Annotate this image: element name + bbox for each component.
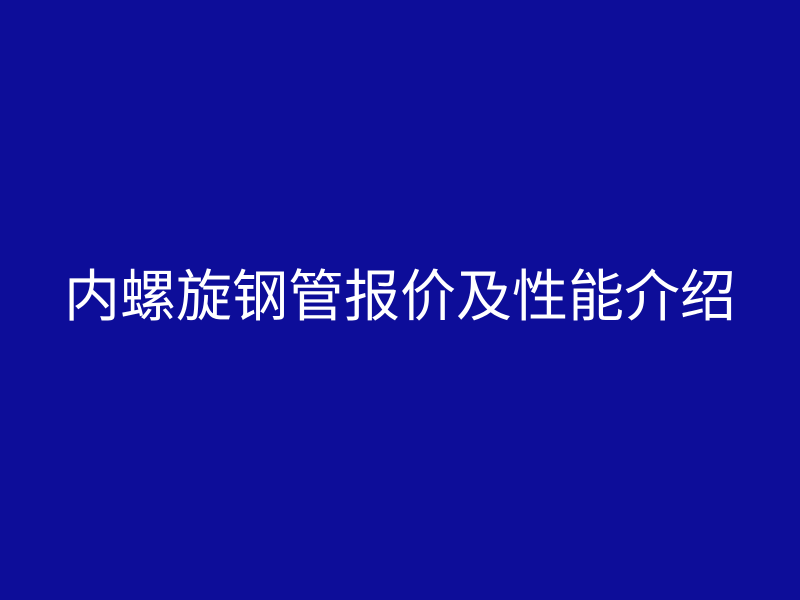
title-card: 内螺旋钢管报价及性能介绍 [0,0,800,600]
page-title: 内螺旋钢管报价及性能介绍 [0,268,800,327]
